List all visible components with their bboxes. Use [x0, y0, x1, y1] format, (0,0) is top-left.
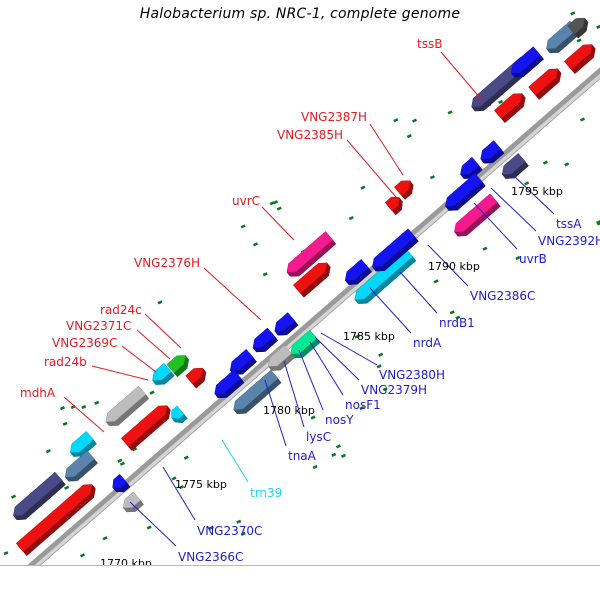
gene-leader-line: [315, 337, 359, 380]
cds-tick: [499, 101, 503, 103]
genome-viewer: Halobacterium sp. NRC-1, complete genome…: [0, 0, 600, 600]
gene-label-vng2380h[interactable]: VNG2380H: [379, 369, 445, 381]
gene-leader-line: [262, 207, 294, 240]
gene-leader-line: [347, 140, 396, 197]
gene-leader-line: [92, 366, 148, 380]
gene-label-rad24c[interactable]: rad24c: [100, 304, 142, 316]
cds-tick: [483, 248, 487, 250]
gene-block[interactable]: [529, 69, 562, 100]
gene-leader-line: [130, 502, 176, 546]
cds-tick: [571, 12, 575, 14]
cds-tick: [237, 521, 241, 523]
gene-block[interactable]: [385, 197, 403, 215]
gene-label-vng2379h[interactable]: VNG2379H: [361, 384, 427, 396]
cds-tick: [61, 407, 65, 409]
cds-tick: [103, 537, 107, 539]
gene-block[interactable]: [123, 492, 144, 512]
cds-tick: [263, 273, 267, 275]
cds-tick: [377, 365, 381, 367]
gene-block[interactable]: [564, 45, 595, 74]
cds-tick: [82, 406, 86, 408]
gene-label-nosf1[interactable]: nosF1: [345, 399, 381, 411]
ruler-tick-label: 1780 kbp: [263, 405, 315, 417]
gene-label-vng2387h[interactable]: VNG2387H: [301, 111, 367, 123]
ruler-tick-label: 1795 kbp: [511, 186, 563, 198]
gene-leader-line: [204, 268, 261, 320]
gene-label-vng2370c[interactable]: VNG2370C: [197, 525, 262, 537]
gene-label-vng2366c[interactable]: VNG2366C: [178, 551, 243, 563]
cds-tick: [332, 454, 336, 456]
cds-tick: [413, 120, 417, 122]
gene-leader-line: [122, 346, 156, 372]
cds-tick: [46, 450, 50, 452]
cds-tick: [277, 208, 281, 210]
gene-block[interactable]: [171, 406, 187, 423]
cds-tick: [581, 119, 585, 121]
gene-label-trn39[interactable]: trn39: [250, 487, 282, 499]
gene-label-vng2371c[interactable]: VNG2371C: [66, 320, 131, 332]
cds-tick: [4, 552, 8, 554]
gene-label-tnaa[interactable]: tnaA: [288, 450, 316, 462]
gene-label-uvrc[interactable]: uvrC: [232, 195, 260, 207]
cds-tick: [565, 163, 569, 165]
gene-block[interactable]: [494, 94, 525, 123]
cds-tick: [577, 40, 581, 42]
cds-tick: [448, 111, 452, 113]
gene-label-vng2385h[interactable]: VNG2385H: [277, 129, 343, 141]
cds-tick: [361, 187, 365, 189]
cds-tick: [450, 311, 454, 313]
gene-block[interactable]: [511, 47, 544, 78]
status-bar: Accession: NC_002607 Topology: circular;…: [0, 565, 600, 600]
gene-block[interactable]: [275, 313, 299, 336]
gene-label-tssa[interactable]: tssA: [556, 218, 581, 230]
cds-tick: [379, 354, 383, 356]
gene-leader-line: [163, 467, 195, 520]
gene-leader-line: [137, 330, 170, 359]
cds-tick: [147, 527, 151, 529]
gene-block[interactable]: [394, 181, 413, 200]
gene-label-nosy[interactable]: nosY: [325, 414, 354, 426]
cds-tick: [241, 225, 245, 227]
cds-tick: [430, 176, 434, 178]
cds-tick: [12, 496, 16, 498]
gene-label-nrdb1[interactable]: nrdB1: [439, 317, 475, 329]
cds-tick: [270, 202, 274, 204]
gene-leader-line: [441, 52, 481, 99]
cds-tick: [95, 402, 99, 404]
gene-leader-line: [222, 440, 248, 482]
ruler-tick-label: 1775 kbp: [175, 479, 227, 491]
gene-leader-line: [370, 288, 411, 333]
gene-label-lysc[interactable]: lysC: [306, 431, 331, 443]
gene-block[interactable]: [268, 345, 295, 370]
gene-label-vng2369c[interactable]: VNG2369C: [52, 337, 117, 349]
cds-tick: [118, 460, 122, 462]
cds-tick: [341, 455, 345, 457]
gene-leader-line: [299, 350, 323, 410]
gene-leader-line: [370, 124, 403, 175]
cds-tick: [525, 182, 529, 184]
cds-tick: [158, 301, 162, 303]
cds-tick: [407, 135, 411, 137]
gene-label-tssb[interactable]: tssB: [417, 38, 442, 50]
gene-block[interactable]: [253, 328, 278, 352]
gene-block[interactable]: [186, 368, 207, 388]
cds-tick: [349, 217, 353, 219]
gene-leader-line: [145, 314, 181, 348]
cds-tick: [543, 162, 547, 164]
cds-tick: [63, 423, 67, 425]
cds-tick: [434, 280, 438, 282]
cds-tick: [150, 392, 154, 394]
ruler-tick-label: 1790 kbp: [428, 261, 480, 273]
gene-label-rad24b[interactable]: rad24b: [44, 356, 87, 368]
cds-tick: [80, 554, 84, 556]
gene-label-nrda[interactable]: nrdA: [413, 337, 441, 349]
cds-tick: [120, 463, 124, 465]
gene-label-vng2376h[interactable]: VNG2376H: [134, 257, 200, 269]
cds-tick: [394, 119, 398, 121]
gene-label-mdha[interactable]: mdhA: [20, 387, 55, 399]
cds-tick: [336, 445, 340, 447]
cds-tick: [313, 466, 317, 468]
gene-label-vng2386c[interactable]: VNG2386C: [470, 290, 535, 302]
gene-leader-line: [400, 272, 437, 313]
cds-tick: [65, 487, 69, 489]
cds-tick: [184, 457, 188, 459]
ruler-tick-label: 1785 kbp: [343, 331, 395, 343]
gene-label-vng2392h[interactable]: VNG2392H: [538, 235, 600, 247]
gene-label-uvrb[interactable]: uvrB: [519, 253, 547, 265]
gene-block[interactable]: [70, 431, 97, 456]
gene-leader-line: [310, 342, 343, 395]
cds-tick: [254, 243, 258, 245]
gene-leader-line: [284, 361, 304, 427]
